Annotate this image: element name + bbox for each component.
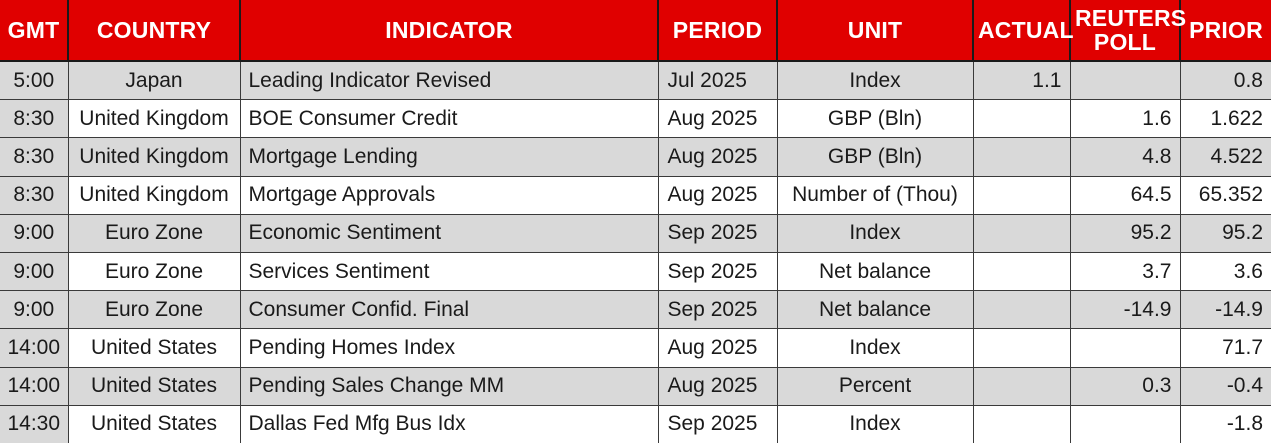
cell-unit: Net balance [777,291,973,329]
column-header-reuters-poll: REUTERS POLL [1070,0,1180,61]
cell-country: Japan [68,61,240,100]
table-row: 8:30United KingdomMortgage LendingAug 20… [0,138,1271,176]
cell-indicator: Pending Homes Index [240,329,658,367]
cell-unit: Net balance [777,252,973,290]
cell-indicator: Mortgage Lending [240,138,658,176]
cell-gmt: 14:00 [0,367,68,405]
cell-indicator: BOE Consumer Credit [240,100,658,138]
column-header-period: PERIOD [658,0,777,61]
cell-period: Aug 2025 [658,100,777,138]
cell-reuters-poll: 95.2 [1070,214,1180,252]
cell-unit: Index [777,214,973,252]
table-row: 9:00Euro ZoneConsumer Confid. FinalSep 2… [0,291,1271,329]
economic-calendar-table: GMT COUNTRY INDICATOR PERIOD UNIT ACTUAL… [0,0,1271,443]
cell-unit: Index [777,61,973,100]
cell-reuters-poll [1070,61,1180,100]
cell-gmt: 9:00 [0,214,68,252]
table-row: 8:30United KingdomMortgage ApprovalsAug … [0,176,1271,214]
cell-actual [973,214,1070,252]
cell-actual [973,176,1070,214]
cell-country: United States [68,405,240,443]
cell-period: Aug 2025 [658,367,777,405]
cell-period: Aug 2025 [658,176,777,214]
cell-indicator: Leading Indicator Revised [240,61,658,100]
cell-gmt: 5:00 [0,61,68,100]
cell-prior: 65.352 [1180,176,1271,214]
cell-country: United Kingdom [68,138,240,176]
column-header-reuters-poll-line1: REUTERS [1075,5,1186,31]
column-header-gmt: GMT [0,0,68,61]
cell-period: Sep 2025 [658,252,777,290]
table-header: GMT COUNTRY INDICATOR PERIOD UNIT ACTUAL… [0,0,1271,61]
cell-indicator: Mortgage Approvals [240,176,658,214]
cell-actual [973,367,1070,405]
cell-gmt: 8:30 [0,100,68,138]
cell-gmt: 14:00 [0,329,68,367]
cell-prior: 0.8 [1180,61,1271,100]
column-header-indicator: INDICATOR [240,0,658,61]
cell-country: United Kingdom [68,100,240,138]
cell-indicator: Pending Sales Change MM [240,367,658,405]
cell-country: United States [68,367,240,405]
cell-prior: 4.522 [1180,138,1271,176]
cell-prior: 1.622 [1180,100,1271,138]
cell-reuters-poll: 0.3 [1070,367,1180,405]
cell-indicator: Economic Sentiment [240,214,658,252]
cell-period: Jul 2025 [658,61,777,100]
cell-country: Euro Zone [68,252,240,290]
column-header-unit: UNIT [777,0,973,61]
cell-indicator: Services Sentiment [240,252,658,290]
table-row: 8:30United KingdomBOE Consumer CreditAug… [0,100,1271,138]
cell-prior: -0.4 [1180,367,1271,405]
cell-actual [973,100,1070,138]
cell-unit: Index [777,405,973,443]
cell-period: Sep 2025 [658,405,777,443]
table-body: 5:00JapanLeading Indicator RevisedJul 20… [0,61,1271,443]
cell-reuters-poll: 1.6 [1070,100,1180,138]
cell-gmt: 8:30 [0,176,68,214]
cell-gmt: 14:30 [0,405,68,443]
cell-unit: GBP (Bln) [777,100,973,138]
cell-country: Euro Zone [68,291,240,329]
cell-actual [973,252,1070,290]
cell-unit: Number of (Thou) [777,176,973,214]
cell-indicator: Dallas Fed Mfg Bus Idx [240,405,658,443]
cell-period: Aug 2025 [658,138,777,176]
cell-prior: 3.6 [1180,252,1271,290]
cell-actual [973,138,1070,176]
header-row: GMT COUNTRY INDICATOR PERIOD UNIT ACTUAL… [0,0,1271,61]
cell-unit: Percent [777,367,973,405]
cell-prior: 71.7 [1180,329,1271,367]
cell-prior: -1.8 [1180,405,1271,443]
cell-actual: 1.1 [973,61,1070,100]
cell-reuters-poll: 64.5 [1070,176,1180,214]
table-row: 5:00JapanLeading Indicator RevisedJul 20… [0,61,1271,100]
cell-gmt: 8:30 [0,138,68,176]
table-row: 14:00United StatesPending Sales Change M… [0,367,1271,405]
cell-prior: -14.9 [1180,291,1271,329]
cell-reuters-poll: 3.7 [1070,252,1180,290]
column-header-prior: PRIOR [1180,0,1271,61]
cell-reuters-poll [1070,405,1180,443]
cell-actual [973,291,1070,329]
cell-country: Euro Zone [68,214,240,252]
cell-unit: Index [777,329,973,367]
table-row: 14:00United StatesPending Homes IndexAug… [0,329,1271,367]
cell-period: Sep 2025 [658,214,777,252]
cell-prior: 95.2 [1180,214,1271,252]
table-row: 14:30United StatesDallas Fed Mfg Bus Idx… [0,405,1271,443]
cell-gmt: 9:00 [0,252,68,290]
column-header-reuters-poll-line2: POLL [1094,29,1156,55]
cell-gmt: 9:00 [0,291,68,329]
column-header-country: COUNTRY [68,0,240,61]
cell-country: United States [68,329,240,367]
cell-period: Sep 2025 [658,291,777,329]
cell-period: Aug 2025 [658,329,777,367]
cell-actual [973,405,1070,443]
column-header-actual: ACTUAL [973,0,1070,61]
table-row: 9:00Euro ZoneEconomic SentimentSep 2025I… [0,214,1271,252]
cell-indicator: Consumer Confid. Final [240,291,658,329]
cell-reuters-poll: -14.9 [1070,291,1180,329]
cell-actual [973,329,1070,367]
cell-country: United Kingdom [68,176,240,214]
table-row: 9:00Euro ZoneServices SentimentSep 2025N… [0,252,1271,290]
cell-reuters-poll: 4.8 [1070,138,1180,176]
cell-unit: GBP (Bln) [777,138,973,176]
cell-reuters-poll [1070,329,1180,367]
